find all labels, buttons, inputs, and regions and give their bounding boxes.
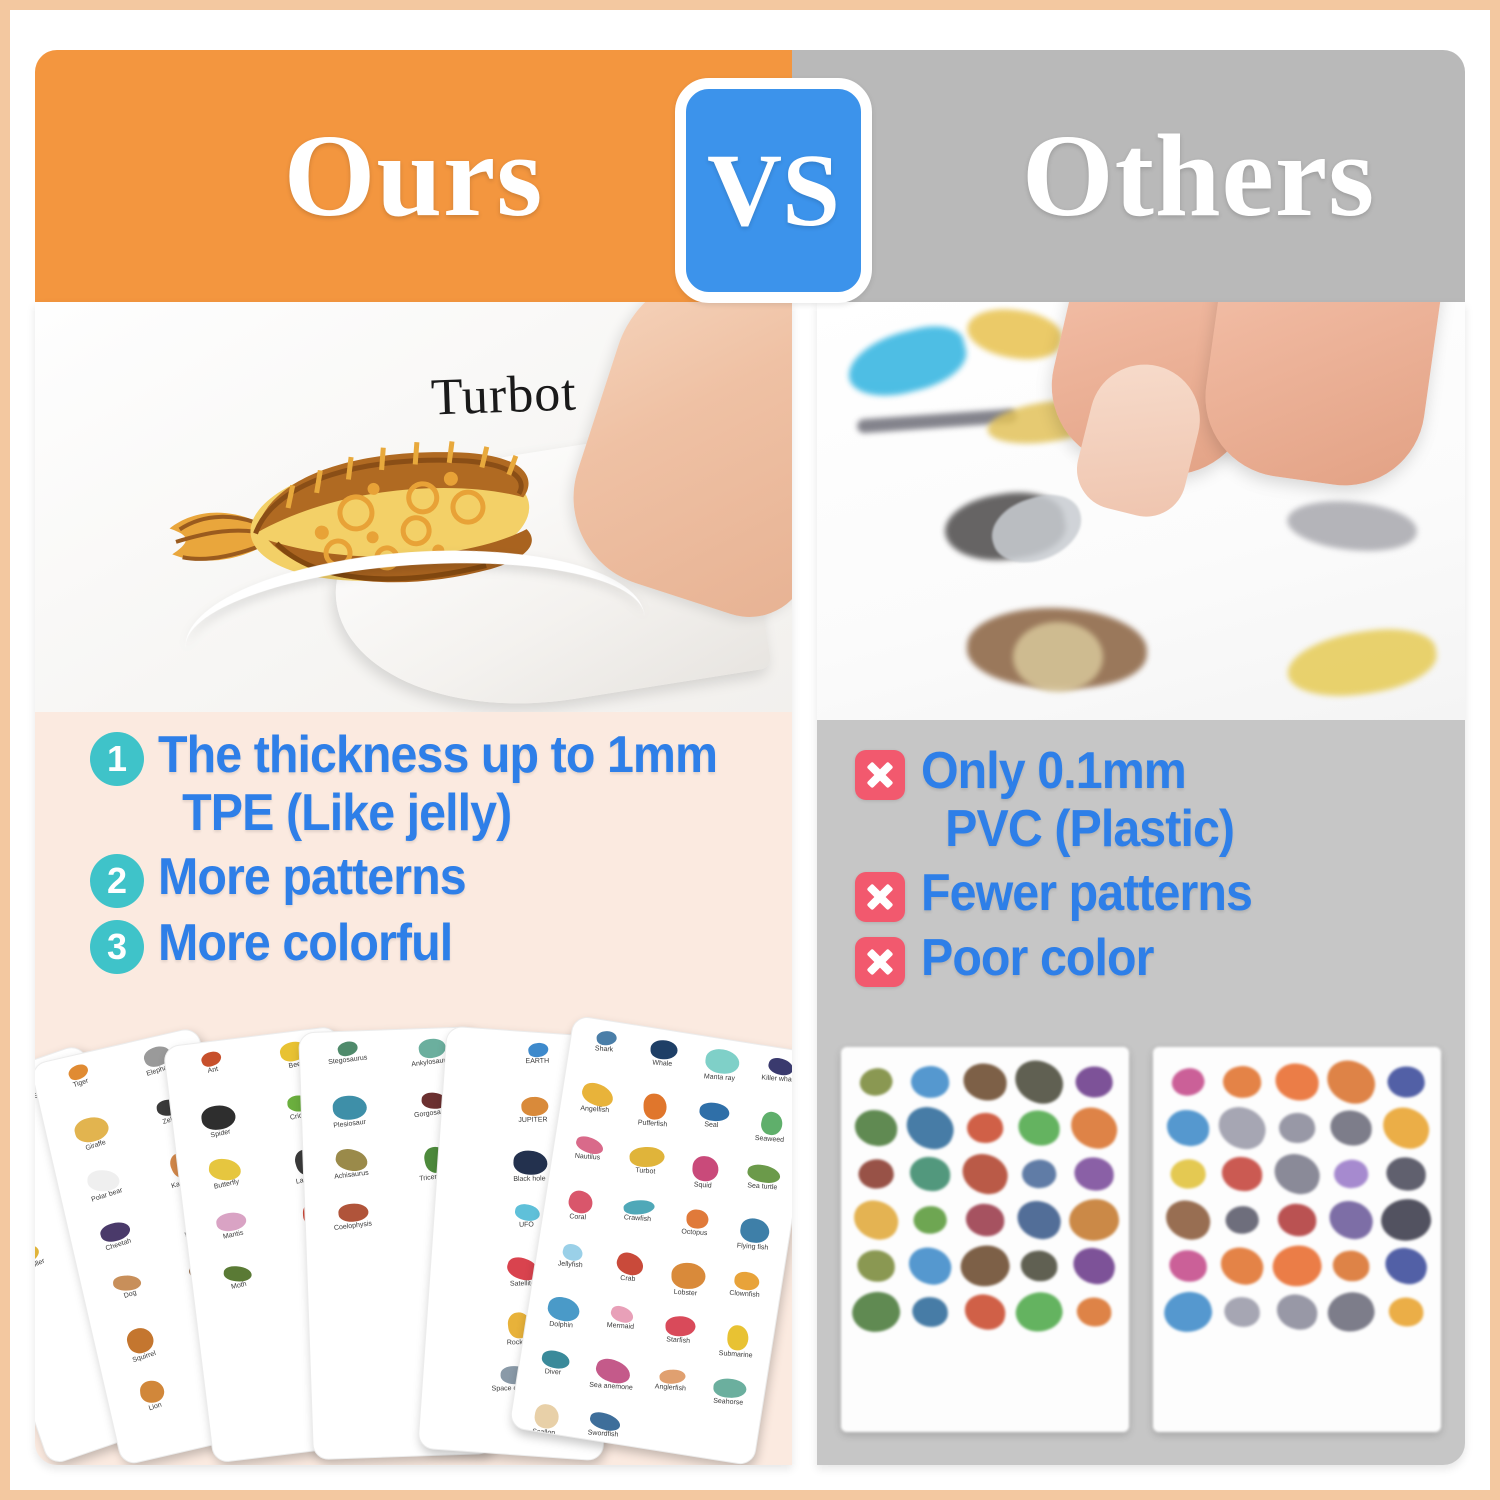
sticker-caption: Crawfish bbox=[623, 1214, 651, 1223]
sticker-graphic bbox=[332, 1095, 367, 1121]
sticker-caption: Submarine bbox=[718, 1350, 752, 1359]
sticker-graphic bbox=[671, 1263, 705, 1289]
sticker-graphic bbox=[726, 1325, 749, 1352]
feature-label: More colorful bbox=[158, 914, 452, 972]
competitor-sticker-graphic bbox=[848, 1287, 905, 1338]
competitor-sticker-graphic bbox=[1011, 1287, 1067, 1337]
sticker-item: Butterfly bbox=[184, 1154, 270, 1215]
sticker-caption: Plesiosaur bbox=[333, 1119, 366, 1130]
sticker-item: Manta ray bbox=[688, 1045, 752, 1105]
sticker-caption: Lobster bbox=[673, 1289, 697, 1298]
sticker-item: Diver bbox=[520, 1347, 584, 1407]
sticker-caption: Starfish bbox=[666, 1336, 690, 1345]
competitor-sticker-graphic bbox=[1224, 1296, 1261, 1327]
competitor-sticker-graphic bbox=[1073, 1157, 1114, 1192]
ours-panel: Turbot 1 The thickness up to 1mm TPE (Li… bbox=[35, 302, 792, 1465]
feature-text: The thickness up to 1mm TPE (Like jelly) bbox=[158, 726, 717, 842]
sticker-caption: Spider bbox=[210, 1128, 231, 1139]
sticker-caption: Ant bbox=[207, 1066, 219, 1075]
competitor-sticker-graphic bbox=[1168, 1156, 1208, 1191]
sticker-item: Seahorse bbox=[695, 1374, 759, 1434]
sticker-caption: Moth bbox=[231, 1281, 248, 1291]
sticker-item: Whale bbox=[629, 1036, 693, 1096]
sticker-item: Crab bbox=[595, 1249, 659, 1309]
sticker-item: Ant bbox=[171, 1047, 257, 1108]
sticker-caption: Black hole bbox=[513, 1175, 545, 1183]
sticker-graphic bbox=[665, 1316, 696, 1337]
sticker-item: Pufferfish bbox=[621, 1089, 685, 1149]
feature-label: Only 0.1mm bbox=[921, 742, 1186, 800]
competitor-sticker-graphic bbox=[961, 1062, 1008, 1103]
competitor-sticker-graphic bbox=[1223, 1203, 1261, 1237]
sticker-caption: Crab bbox=[620, 1275, 636, 1283]
feature-text: Only 0.1mm PVC (Plastic) bbox=[921, 742, 1234, 858]
competitor-sticker-graphic bbox=[1165, 1108, 1211, 1147]
sticker-caption: Whale bbox=[652, 1059, 672, 1067]
owl-body bbox=[1013, 622, 1103, 692]
list-item: Poor color bbox=[855, 929, 1455, 987]
competitor-sticker-graphic bbox=[1065, 1102, 1122, 1154]
sticker-caption: Diver bbox=[545, 1368, 562, 1376]
header-others-label: Others bbox=[1022, 117, 1375, 235]
sticker-caption: UFO bbox=[519, 1221, 534, 1228]
feature-text: More colorful bbox=[158, 914, 452, 972]
competitor-sticker-graphic bbox=[1277, 1110, 1318, 1146]
sticker-caption: Seal bbox=[705, 1121, 719, 1129]
competitor-sticker-graphic bbox=[1069, 1244, 1118, 1287]
others-panel: Only 0.1mm PVC (Plastic) Fewer patterns … bbox=[817, 302, 1465, 1465]
competitor-sticker-graphic bbox=[1333, 1250, 1370, 1281]
sticker-sheet-fan: BusSchool busTruckExcavatorConvertibleRa… bbox=[45, 1002, 790, 1457]
blurred-bird-sticker bbox=[1285, 495, 1419, 556]
sticker-graphic bbox=[200, 1103, 237, 1131]
sticker-item: Submarine bbox=[704, 1321, 768, 1381]
feature-sublabel: PVC (Plastic) bbox=[921, 800, 1234, 858]
competitor-sticker-graphic bbox=[1323, 1287, 1379, 1337]
competitor-sticker-graphic bbox=[1332, 1157, 1371, 1192]
others-product-photo bbox=[817, 302, 1465, 720]
sticker-graphic bbox=[650, 1040, 677, 1059]
sticker-item: Flying fish bbox=[720, 1214, 784, 1274]
sticker-caption: Jellyfish bbox=[558, 1260, 583, 1269]
sticker-caption: Killer whale bbox=[761, 1074, 792, 1083]
competitor-sticker-graphic bbox=[857, 1250, 895, 1282]
sticker-item: Stegosaurus bbox=[305, 1040, 390, 1095]
sticker-graphic bbox=[532, 1402, 560, 1430]
competitor-sticker-graphic bbox=[1020, 1157, 1059, 1192]
competitor-sticker-graphic bbox=[965, 1110, 1006, 1146]
sticker-graphic bbox=[739, 1217, 771, 1245]
list-item: 1 The thickness up to 1mm TPE (Like jell… bbox=[90, 726, 790, 842]
middle-finger bbox=[1195, 302, 1459, 496]
sticker-caption: Clownfish bbox=[729, 1290, 760, 1299]
competitor-sticker-graphic bbox=[1277, 1203, 1316, 1236]
feature-label: The thickness up to 1mm bbox=[158, 726, 717, 784]
feature-text: Fewer patterns bbox=[921, 864, 1252, 922]
sticker-caption: Dolphin bbox=[549, 1321, 573, 1330]
sticker-graphic bbox=[691, 1155, 719, 1182]
competitor-sticker-graphic bbox=[1381, 1244, 1430, 1287]
feature-label: Poor color bbox=[921, 929, 1154, 987]
competitor-sticker-sheet-dinosaurs bbox=[841, 1047, 1129, 1432]
sticker-caption: Coral bbox=[569, 1213, 586, 1221]
sticker-graphic bbox=[520, 1096, 548, 1117]
sticker-item: Plesiosaur bbox=[307, 1094, 392, 1149]
competitor-sticker-graphic bbox=[1221, 1156, 1264, 1192]
sticker-item: Lobster bbox=[654, 1259, 718, 1319]
competitor-sticker-graphic bbox=[909, 1156, 952, 1192]
feature-text: Poor color bbox=[921, 929, 1154, 987]
competitor-sticker-graphic bbox=[1329, 1109, 1373, 1147]
competitor-sticker-graphic bbox=[1013, 1197, 1065, 1244]
sticker-item: Squid bbox=[671, 1152, 735, 1212]
competitor-sticker-graphic bbox=[1273, 1291, 1320, 1333]
competitor-sticker-graphic bbox=[911, 1203, 949, 1237]
sticker-graphic bbox=[713, 1378, 747, 1399]
sticker-caption: Flying fish bbox=[736, 1242, 768, 1251]
sticker-item: Crawfish bbox=[604, 1196, 668, 1256]
sticker-caption: Shark bbox=[595, 1045, 614, 1053]
sticker-item: Octopus bbox=[662, 1205, 726, 1265]
competitor-sticker-graphic bbox=[1321, 1055, 1381, 1110]
blurred-bird-sticker bbox=[964, 302, 1066, 366]
sticker-graphic bbox=[629, 1146, 665, 1168]
sticker-caption: Sea turtle bbox=[747, 1182, 777, 1191]
list-item: 3 More colorful bbox=[90, 914, 790, 974]
sticker-graphic bbox=[686, 1209, 709, 1229]
sticker-graphic bbox=[703, 1047, 740, 1075]
ours-feature-list: 1 The thickness up to 1mm TPE (Like jell… bbox=[90, 726, 790, 980]
sticker-graphic bbox=[643, 1093, 666, 1119]
sticker-item: Moth bbox=[197, 1262, 283, 1323]
sticker-graphic bbox=[560, 1242, 584, 1263]
list-item: 2 More patterns bbox=[90, 848, 790, 908]
blurred-bird-sticker bbox=[1283, 622, 1440, 704]
comparison-infographic: Ours Others VS bbox=[10, 10, 1490, 1490]
competitor-sticker-graphic bbox=[856, 1064, 896, 1101]
sticker-caption: EARTH bbox=[526, 1058, 550, 1065]
sticker-item: Sea turtle bbox=[729, 1161, 792, 1221]
competitor-sticker-graphic bbox=[1073, 1064, 1114, 1100]
x-mark-icon bbox=[855, 937, 905, 987]
competitor-sticker-graphic bbox=[1222, 1064, 1264, 1100]
sticker-caption: Butterfly bbox=[213, 1178, 240, 1190]
sticker-caption: Turbot bbox=[635, 1167, 655, 1175]
competitor-sticker-graphic bbox=[957, 1149, 1012, 1199]
x-mark-icon bbox=[855, 872, 905, 922]
sticker-graphic bbox=[565, 1188, 595, 1216]
sticker-caption: Nautilus bbox=[574, 1153, 600, 1162]
competitor-sticker-graphic bbox=[1017, 1109, 1061, 1147]
header-others-panel: Others bbox=[792, 50, 1465, 302]
sticker-caption: Squid bbox=[693, 1181, 711, 1189]
number-badge: 2 bbox=[90, 854, 144, 908]
header-ours-label: Ours bbox=[284, 117, 544, 235]
competitor-sticker-graphic bbox=[912, 1296, 949, 1327]
feature-label: More patterns bbox=[158, 848, 466, 906]
sticker-item: Killer whale bbox=[746, 1054, 792, 1114]
competitor-sticker-graphic bbox=[1388, 1297, 1424, 1328]
competitor-sticker-graphic bbox=[1009, 1055, 1069, 1110]
competitor-sticker-graphic bbox=[1217, 1244, 1267, 1289]
sticker-graphic bbox=[659, 1369, 686, 1385]
sticker-item: Seaweed bbox=[737, 1108, 792, 1168]
others-feature-list: Only 0.1mm PVC (Plastic) Fewer patterns … bbox=[855, 742, 1455, 993]
sticker-item: Clownfish bbox=[712, 1268, 776, 1328]
competitor-sticker-graphic bbox=[1273, 1062, 1320, 1103]
competitor-sticker-graphic bbox=[1385, 1064, 1426, 1100]
competitor-sticker-graphic bbox=[961, 1291, 1008, 1333]
sticker-item: Angelfish bbox=[563, 1080, 627, 1140]
sticker-item: Nautilus bbox=[554, 1133, 618, 1193]
sticker-graphic bbox=[595, 1030, 616, 1046]
sticker-caption: Seaweed bbox=[755, 1135, 785, 1144]
turbot-label: Turbot bbox=[430, 363, 578, 427]
sticker-graphic bbox=[513, 1150, 548, 1176]
competitor-sticker-graphic bbox=[1169, 1250, 1207, 1282]
competitor-sticker-graphic bbox=[853, 1108, 899, 1147]
ours-product-photo: Turbot bbox=[35, 302, 792, 712]
x-mark-icon bbox=[855, 750, 905, 800]
number-badge: 3 bbox=[90, 920, 144, 974]
sticker-graphic bbox=[623, 1199, 655, 1216]
competitor-sticker-graphic bbox=[1269, 1149, 1324, 1199]
sticker-item: Mermaid bbox=[587, 1303, 651, 1363]
competitor-sticker-graphic bbox=[901, 1101, 959, 1154]
sticker-graphic bbox=[337, 1202, 368, 1223]
sticker-item: Shark bbox=[571, 1027, 635, 1087]
sticker-caption: Stegosaurus bbox=[328, 1054, 368, 1066]
feature-label: Fewer patterns bbox=[921, 864, 1252, 922]
vs-label: VS bbox=[707, 139, 840, 243]
competitor-sticker-graphic bbox=[1385, 1157, 1426, 1192]
competitor-sticker-graphic bbox=[1213, 1101, 1271, 1154]
sticker-caption: Anglerfish bbox=[654, 1383, 686, 1392]
sticker-graphic bbox=[527, 1041, 549, 1059]
competitor-sticker-graphic bbox=[1021, 1250, 1058, 1281]
sticker-graphic bbox=[113, 1275, 142, 1291]
sticker-caption: Mermaid bbox=[606, 1322, 634, 1331]
sticker-graphic bbox=[513, 1203, 540, 1223]
feature-sublabel: TPE (Like jelly) bbox=[158, 784, 717, 842]
sticker-caption: JUPITER bbox=[519, 1117, 548, 1125]
competitor-sticker-graphic bbox=[965, 1203, 1004, 1236]
list-item: Fewer patterns bbox=[855, 864, 1455, 922]
sticker-caption: Octopus bbox=[682, 1228, 709, 1237]
sticker-graphic bbox=[733, 1271, 760, 1292]
sticker-item: Seal bbox=[679, 1099, 743, 1159]
sticker-item: Achisaurus bbox=[309, 1148, 394, 1203]
sticker-item: Sea anemone bbox=[579, 1356, 643, 1416]
sticker-caption: Pufferfish bbox=[637, 1119, 667, 1128]
sticker-item: Mantis bbox=[191, 1208, 277, 1269]
blurred-bird-sticker bbox=[842, 318, 973, 405]
sticker-graphic bbox=[759, 1110, 785, 1137]
sticker-item: Turbot bbox=[612, 1143, 676, 1203]
sticker-caption: Swordfish bbox=[588, 1429, 619, 1438]
competitor-sticker-graphic bbox=[1377, 1194, 1435, 1246]
sticker-caption: Manta ray bbox=[704, 1073, 736, 1082]
sticker-caption: Sea anemone bbox=[589, 1382, 633, 1392]
number-badge: 1 bbox=[90, 732, 144, 786]
sticker-caption: Road roller bbox=[35, 1258, 46, 1278]
sticker-graphic bbox=[698, 1101, 730, 1122]
sticker-caption: Seahorse bbox=[713, 1398, 743, 1407]
sticker-item: Coelophysis bbox=[311, 1202, 396, 1257]
sticker-item: Spider bbox=[177, 1101, 263, 1162]
competitor-sticker-graphic bbox=[1268, 1240, 1325, 1291]
competitor-sticker-graphic bbox=[1377, 1102, 1434, 1154]
competitor-sticker-graphic bbox=[1160, 1287, 1217, 1338]
sticker-caption: Achisaurus bbox=[334, 1170, 369, 1181]
competitor-sticker-graphic bbox=[856, 1156, 896, 1191]
list-item: Only 0.1mm PVC (Plastic) bbox=[855, 742, 1455, 858]
sticker-caption: Coelophysis bbox=[334, 1220, 373, 1232]
competitor-sticker-graphic bbox=[1076, 1297, 1112, 1328]
competitor-sticker-graphic bbox=[956, 1240, 1013, 1291]
sticker-item: Jellyfish bbox=[537, 1240, 601, 1300]
competitor-sticker-sheets bbox=[841, 1047, 1441, 1432]
competitor-sticker-graphic bbox=[849, 1196, 903, 1244]
competitor-sticker-graphic bbox=[905, 1244, 955, 1289]
competitor-sticker-graphic bbox=[1168, 1064, 1208, 1101]
sticker-item: Anglerfish bbox=[637, 1365, 701, 1425]
sticker-caption: Dog bbox=[123, 1289, 137, 1300]
competitor-sticker-graphic bbox=[1325, 1197, 1377, 1244]
competitor-sticker-graphic bbox=[1161, 1196, 1215, 1244]
sticker-item: Dolphin bbox=[529, 1293, 593, 1353]
competitor-sticker-graphic bbox=[910, 1064, 952, 1100]
sticker-graphic bbox=[545, 1294, 582, 1324]
competitor-sticker-graphic bbox=[1065, 1194, 1123, 1246]
sticker-caption: Angelfish bbox=[580, 1105, 609, 1114]
sticker-item: Coral bbox=[546, 1187, 610, 1247]
sticker-graphic bbox=[139, 1380, 164, 1404]
vs-badge: VS bbox=[675, 78, 872, 303]
sticker-graphic bbox=[614, 1249, 647, 1279]
sticker-graphic bbox=[223, 1265, 252, 1282]
sticker-caption: Lion bbox=[148, 1401, 163, 1412]
feature-text: More patterns bbox=[158, 848, 466, 906]
sticker-item: Starfish bbox=[645, 1312, 709, 1372]
competitor-sticker-sheet-space bbox=[1153, 1047, 1441, 1432]
header-bar: Ours Others VS bbox=[35, 50, 1465, 302]
